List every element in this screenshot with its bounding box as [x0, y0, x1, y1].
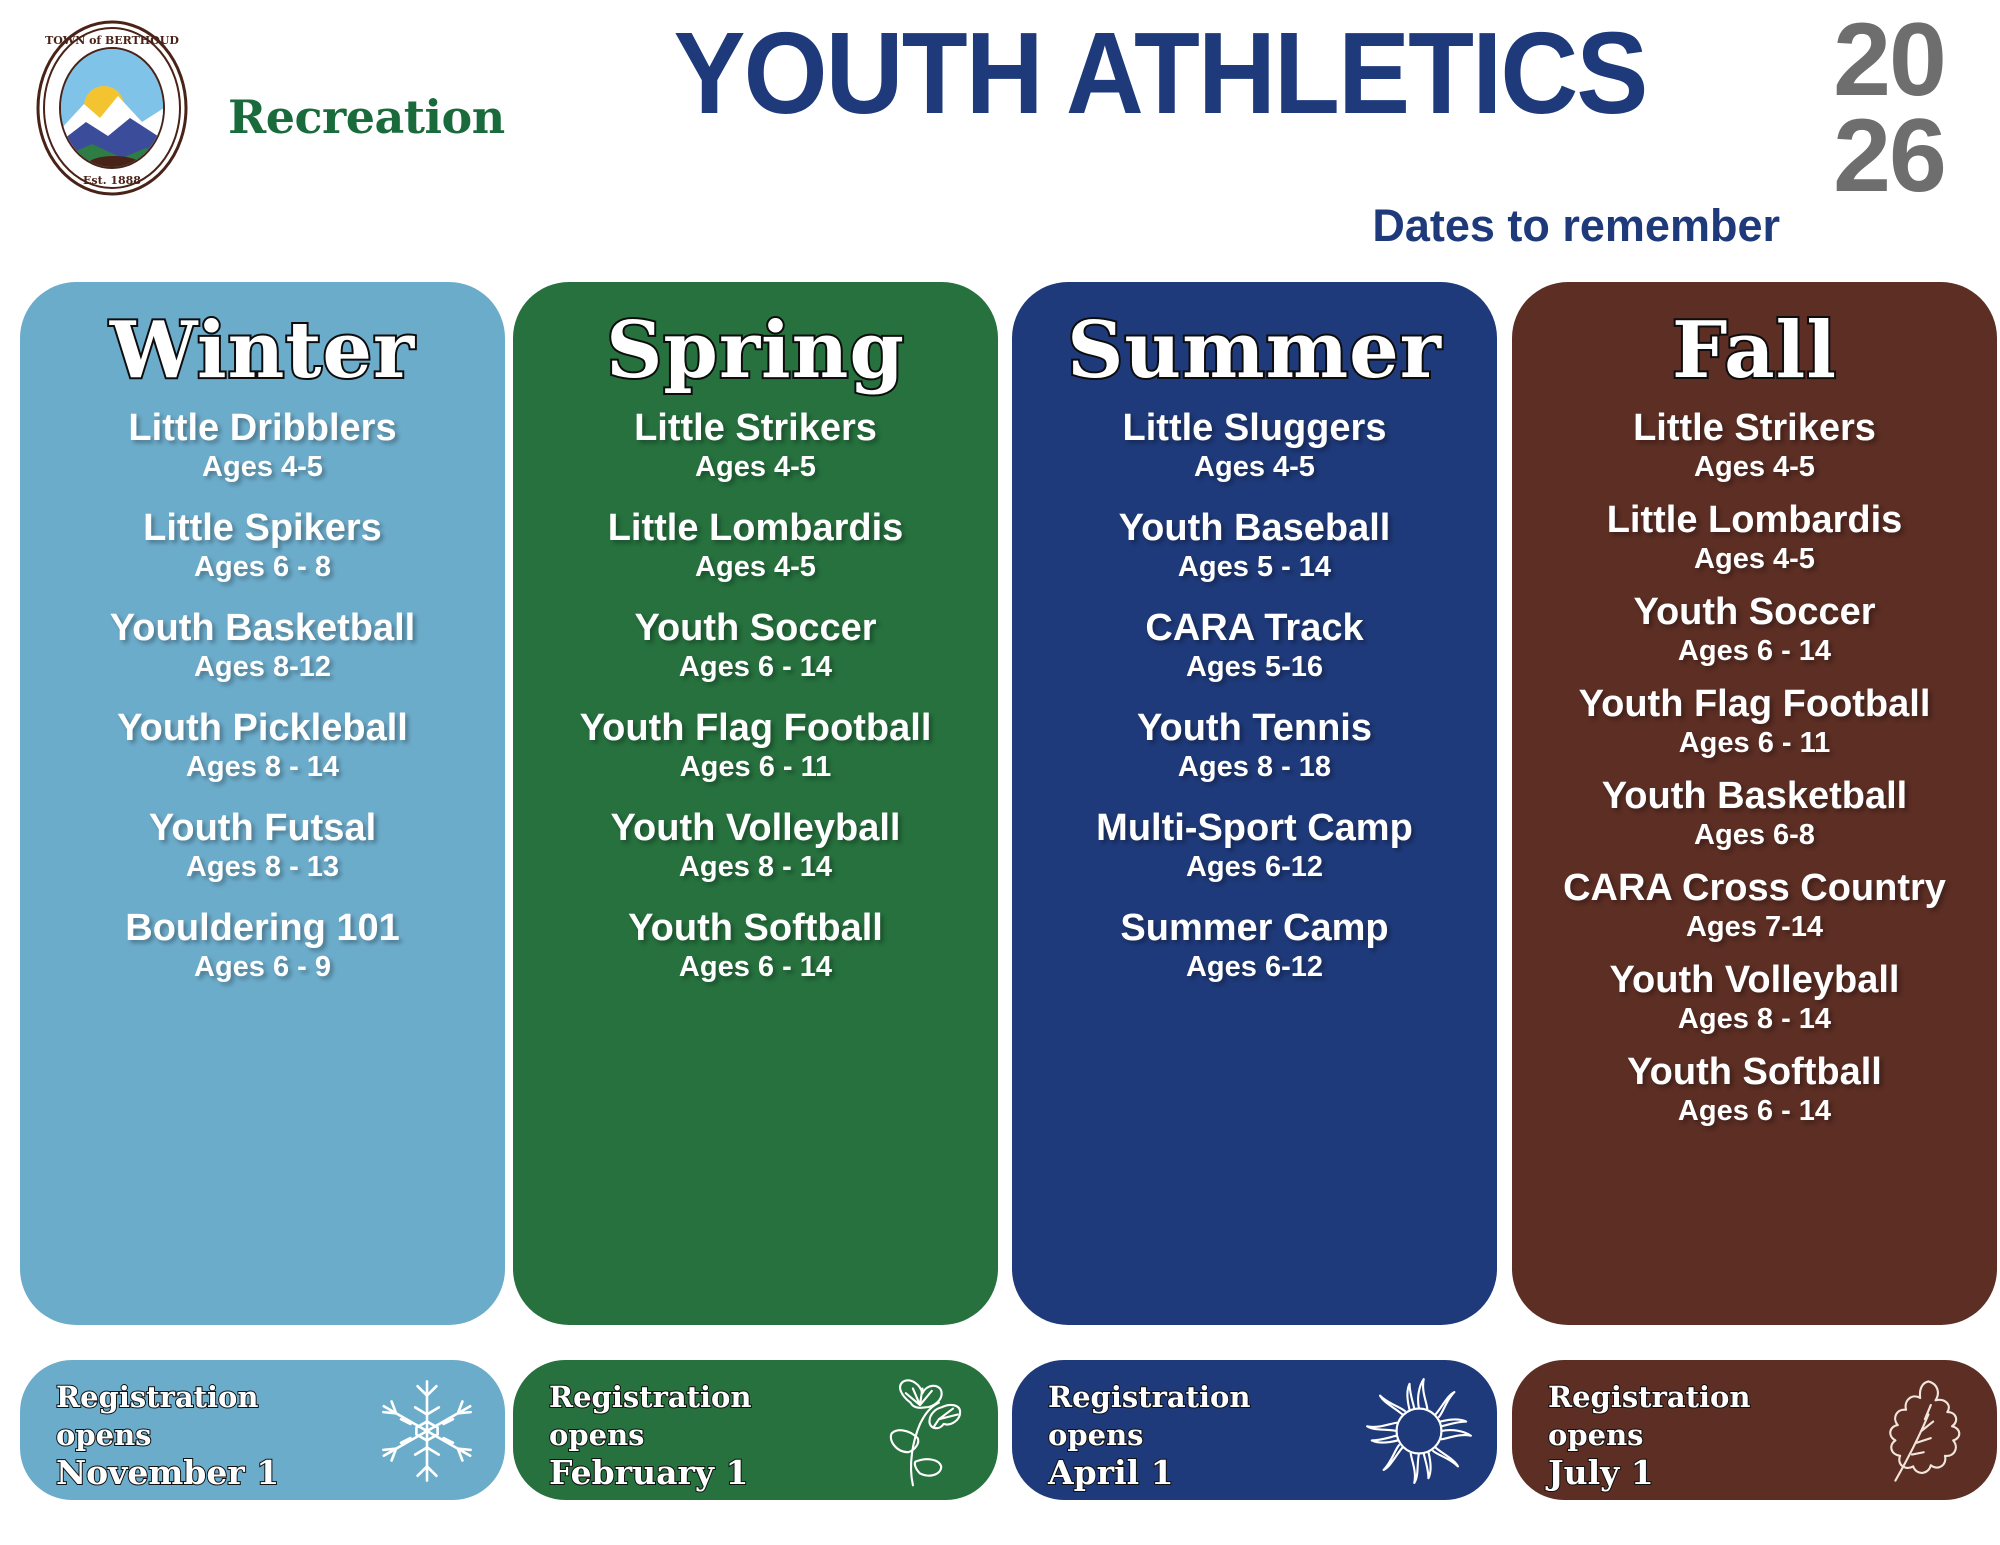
program-name: Little Strikers	[1522, 406, 1987, 450]
program-item: Youth Basketball Ages 6-8	[1522, 774, 1987, 852]
town-of-berthoud-seal-logo: TOWN of BERTHOUD Est. 1888	[22, 18, 202, 198]
season-card-spring[interactable]: Spring Little Strikers Ages 4-5 Little L…	[513, 282, 998, 1325]
program-ages: Ages 6 - 14	[523, 950, 988, 984]
program-item: Youth Basketball Ages 8-12	[30, 606, 495, 684]
year-badge: 20 26	[1794, 12, 1984, 204]
program-item: Little Lombardis Ages 4-5	[523, 506, 988, 584]
program-name: Youth Basketball	[30, 606, 495, 650]
program-ages: Ages 4-5	[1522, 542, 1987, 576]
season-title-spring: Spring	[523, 308, 988, 394]
program-ages: Ages 4-5	[1022, 450, 1487, 484]
program-list-winter: Little Dribblers Ages 4-5 Little Spikers…	[30, 406, 495, 984]
registration-bar-winter[interactable]: Registration opens November 1	[20, 1360, 505, 1500]
season-cards: Winter Little Dribblers Ages 4-5 Little …	[0, 282, 2000, 1332]
program-name: Youth Baseball	[1022, 506, 1487, 550]
registration-bar-spring[interactable]: Registration opens February 1	[513, 1360, 998, 1500]
program-name: Youth Soccer	[523, 606, 988, 650]
program-ages: Ages 8 - 14	[1522, 1002, 1987, 1036]
program-name: Youth Softball	[523, 906, 988, 950]
program-ages: Ages 6-8	[1522, 818, 1987, 852]
season-card-winter[interactable]: Winter Little Dribblers Ages 4-5 Little …	[20, 282, 505, 1325]
program-name: Youth Volleyball	[523, 806, 988, 850]
program-ages: Ages 5 - 14	[1022, 550, 1487, 584]
snowflake-icon	[367, 1372, 487, 1490]
season-card-fall[interactable]: Fall Little Strikers Ages 4-5 Little Lom…	[1512, 282, 1997, 1325]
program-name: Youth Flag Football	[523, 706, 988, 750]
program-name: Youth Tennis	[1022, 706, 1487, 750]
program-ages: Ages 6-12	[1022, 950, 1487, 984]
registration-bar-summer[interactable]: Registration opens April 1	[1012, 1360, 1497, 1500]
season-title-fall: Fall	[1522, 308, 1987, 394]
program-name: Little Lombardis	[523, 506, 988, 550]
program-ages: Ages 6 - 14	[1522, 634, 1987, 668]
registration-line-1: Registration	[1548, 1378, 1848, 1416]
season-card-summer[interactable]: Summer Little Sluggers Ages 4-5 Youth Ba…	[1012, 282, 1497, 1325]
program-name: Little Dribblers	[30, 406, 495, 450]
program-list-spring: Little Strikers Ages 4-5 Little Lombardi…	[523, 406, 988, 984]
year-top: 20	[1794, 12, 1984, 108]
program-item: Bouldering 101 Ages 6 - 9	[30, 906, 495, 984]
program-ages: Ages 6 - 11	[523, 750, 988, 784]
program-ages: Ages 8 - 18	[1022, 750, 1487, 784]
program-name: Youth Pickleball	[30, 706, 495, 750]
registration-bar-fall[interactable]: Registration opens July 1	[1512, 1360, 1997, 1500]
program-ages: Ages 8 - 14	[523, 850, 988, 884]
program-name: Youth Basketball	[1522, 774, 1987, 818]
program-item: Little Strikers Ages 4-5	[1522, 406, 1987, 484]
page-subtitle: Dates to remember	[760, 200, 1780, 252]
program-name: Youth Softball	[1522, 1050, 1987, 1094]
sun-icon	[1359, 1372, 1479, 1490]
program-ages: Ages 8 - 13	[30, 850, 495, 884]
program-ages: Ages 6 - 8	[30, 550, 495, 584]
program-name: Summer Camp	[1022, 906, 1487, 950]
program-item: Youth Flag Football Ages 6 - 11	[523, 706, 988, 784]
program-ages: Ages 8-12	[30, 650, 495, 684]
program-ages: Ages 8 - 14	[30, 750, 495, 784]
program-item: Youth Tennis Ages 8 - 18	[1022, 706, 1487, 784]
program-item: Summer Camp Ages 6-12	[1022, 906, 1487, 984]
registration-line-1: Registration	[1048, 1378, 1348, 1416]
program-ages: Ages 6 - 11	[1522, 726, 1987, 760]
program-item: Little Lombardis Ages 4-5	[1522, 498, 1987, 576]
program-ages: Ages 5-16	[1022, 650, 1487, 684]
program-item: Youth Baseball Ages 5 - 14	[1022, 506, 1487, 584]
program-item: Youth Volleyball Ages 8 - 14	[1522, 958, 1987, 1036]
program-ages: Ages 4-5	[30, 450, 495, 484]
recreation-brand-text: Recreation	[228, 90, 505, 144]
registration-date: July 1	[1548, 1454, 1848, 1492]
youth-athletics-poster: TOWN of BERTHOUD Est. 1888 Recreation YO…	[0, 0, 2000, 1545]
program-ages: Ages 6-12	[1022, 850, 1487, 884]
program-name: Little Sluggers	[1022, 406, 1487, 450]
program-name: Youth Flag Football	[1522, 682, 1987, 726]
program-item: Youth Softball Ages 6 - 14	[1522, 1050, 1987, 1128]
program-item: Youth Soccer Ages 6 - 14	[1522, 590, 1987, 668]
program-name: Multi-Sport Camp	[1022, 806, 1487, 850]
registration-line-2: opens	[549, 1416, 849, 1454]
program-name: Youth Volleyball	[1522, 958, 1987, 1002]
program-item: Youth Softball Ages 6 - 14	[523, 906, 988, 984]
program-item: CARA Cross Country Ages 7-14	[1522, 866, 1987, 944]
program-ages: Ages 4-5	[523, 550, 988, 584]
season-title-summer: Summer	[1022, 308, 1487, 394]
program-ages: Ages 6 - 14	[523, 650, 988, 684]
program-ages: Ages 7-14	[1522, 910, 1987, 944]
registration-text-summer: Registration opens April 1	[1048, 1378, 1348, 1492]
registration-text-winter: Registration opens November 1	[56, 1378, 356, 1492]
poster-header: TOWN of BERTHOUD Est. 1888 Recreation YO…	[0, 0, 2000, 262]
registration-text-spring: Registration opens February 1	[549, 1378, 849, 1492]
program-ages: Ages 4-5	[523, 450, 988, 484]
program-item: Little Strikers Ages 4-5	[523, 406, 988, 484]
program-list-fall: Little Strikers Ages 4-5 Little Lombardi…	[1522, 406, 1987, 1128]
registration-line-1: Registration	[549, 1378, 849, 1416]
program-name: Little Spikers	[30, 506, 495, 550]
program-item: Little Dribblers Ages 4-5	[30, 406, 495, 484]
registration-date: February 1	[549, 1454, 849, 1492]
registration-line-1: Registration	[56, 1378, 356, 1416]
program-item: Youth Futsal Ages 8 - 13	[30, 806, 495, 884]
program-item: Youth Pickleball Ages 8 - 14	[30, 706, 495, 784]
seal-bottom-text: Est. 1888	[83, 174, 141, 187]
program-name: CARA Track	[1022, 606, 1487, 650]
program-name: Bouldering 101	[30, 906, 495, 950]
program-item: Little Sluggers Ages 4-5	[1022, 406, 1487, 484]
page-title: YOUTH ATHLETICS	[583, 14, 1736, 132]
season-title-winter: Winter	[30, 308, 495, 394]
flower-icon	[860, 1372, 980, 1490]
program-item: Multi-Sport Camp Ages 6-12	[1022, 806, 1487, 884]
registration-line-2: opens	[56, 1416, 356, 1454]
registration-line-2: opens	[1548, 1416, 1848, 1454]
program-item: CARA Track Ages 5-16	[1022, 606, 1487, 684]
program-ages: Ages 6 - 14	[1522, 1094, 1987, 1128]
program-name: Little Lombardis	[1522, 498, 1987, 542]
registration-line-2: opens	[1048, 1416, 1348, 1454]
seal-top-text: TOWN of BERTHOUD	[45, 34, 179, 47]
program-item: Youth Flag Football Ages 6 - 11	[1522, 682, 1987, 760]
registration-bars: Registration opens November 1	[0, 1360, 2000, 1510]
program-name: CARA Cross Country	[1522, 866, 1987, 910]
registration-date: April 1	[1048, 1454, 1348, 1492]
program-name: Youth Soccer	[1522, 590, 1987, 634]
year-bottom: 26	[1794, 108, 1984, 204]
program-name: Little Strikers	[523, 406, 988, 450]
program-item: Youth Soccer Ages 6 - 14	[523, 606, 988, 684]
registration-date: November 1	[56, 1454, 356, 1492]
program-ages: Ages 6 - 9	[30, 950, 495, 984]
registration-text-fall: Registration opens July 1	[1548, 1378, 1848, 1492]
program-ages: Ages 4-5	[1522, 450, 1987, 484]
program-item: Youth Volleyball Ages 8 - 14	[523, 806, 988, 884]
leaf-icon	[1859, 1372, 1979, 1490]
program-name: Youth Futsal	[30, 806, 495, 850]
program-item: Little Spikers Ages 6 - 8	[30, 506, 495, 584]
program-list-summer: Little Sluggers Ages 4-5 Youth Baseball …	[1022, 406, 1487, 984]
